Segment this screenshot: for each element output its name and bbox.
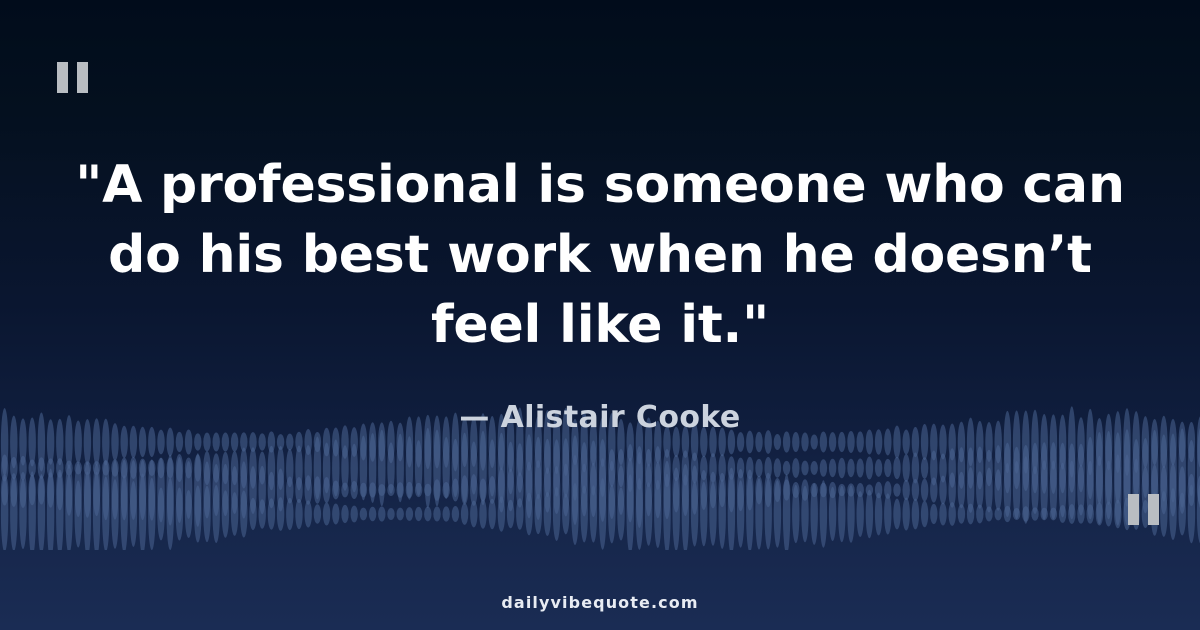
quote-card: "A professional is someone who can do hi…: [0, 0, 1200, 630]
quote-bar: [77, 62, 88, 93]
quotation-mark-icon-top: [57, 62, 88, 93]
quote-bar: [57, 62, 68, 93]
quotation-mark-icon-bottom: [1128, 494, 1159, 525]
quote-author: — Alistair Cooke: [150, 400, 1050, 435]
quote-bar: [1128, 494, 1139, 525]
site-footer: dailyvibequote.com: [300, 593, 900, 612]
quote-text: "A professional is someone who can do hi…: [55, 150, 1145, 360]
quote-bar: [1148, 494, 1159, 525]
